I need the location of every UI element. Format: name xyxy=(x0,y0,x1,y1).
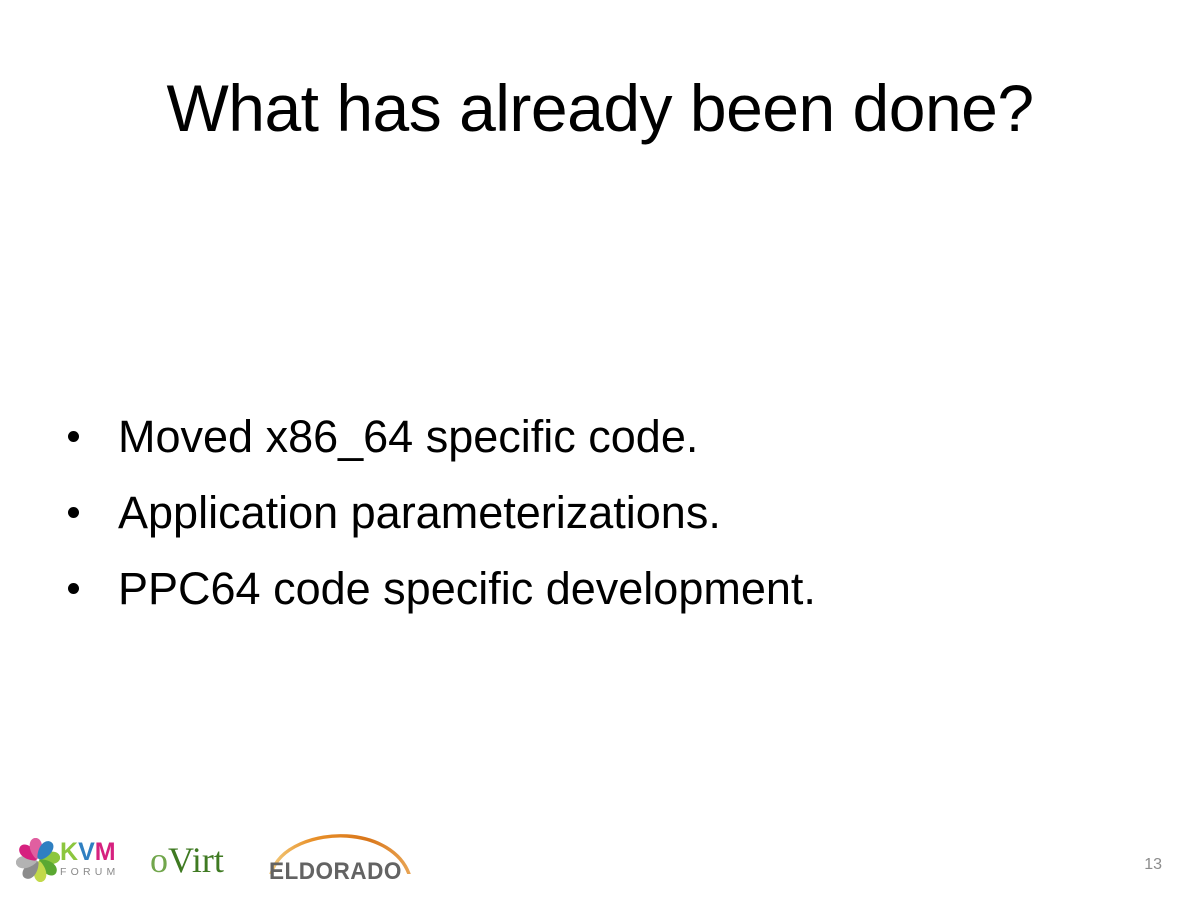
list-item-label: Application parameterizations. xyxy=(118,490,721,535)
eldorado-wordmark: ELDORADO xyxy=(269,860,402,884)
slide-number: 13 xyxy=(1144,856,1162,874)
kvm-letter-k: K xyxy=(60,838,78,866)
kvm-forum-logo: KVM FORUM xyxy=(16,832,136,888)
kvm-letters: KVM xyxy=(60,840,120,865)
eldorado-logo: ELDORADO xyxy=(265,834,415,890)
page-title: What has already been done? xyxy=(60,74,1140,143)
kvm-wordmark: KVM FORUM xyxy=(60,840,120,879)
slide-canvas: What has already been done? Moved x86_64… xyxy=(0,0,1200,900)
footer-logo-strip: KVM FORUM oVirt ELDORADO xyxy=(0,826,440,896)
bullet-marker-icon xyxy=(68,507,79,518)
bullet-marker-icon xyxy=(68,583,79,594)
kvm-pinwheel-icon xyxy=(16,838,60,882)
kvm-letter-v: V xyxy=(78,838,95,866)
list-item: Moved x86_64 specific code. xyxy=(62,414,1062,490)
bullet-marker-icon xyxy=(68,431,79,442)
kvm-forum-subtitle: FORUM xyxy=(60,866,120,879)
list-item: PPC64 code specific development. xyxy=(62,566,1062,642)
bullet-list: Moved x86_64 specific code. Application … xyxy=(62,414,1062,642)
ovirt-wordmark: Virt xyxy=(168,840,224,880)
ovirt-logo: oVirt xyxy=(150,842,224,878)
kvm-letter-m: M xyxy=(95,838,116,866)
ovirt-letter-o: o xyxy=(150,840,168,880)
list-item: Application parameterizations. xyxy=(62,490,1062,566)
list-item-label: PPC64 code specific development. xyxy=(118,566,816,611)
list-item-label: Moved x86_64 specific code. xyxy=(118,414,698,459)
